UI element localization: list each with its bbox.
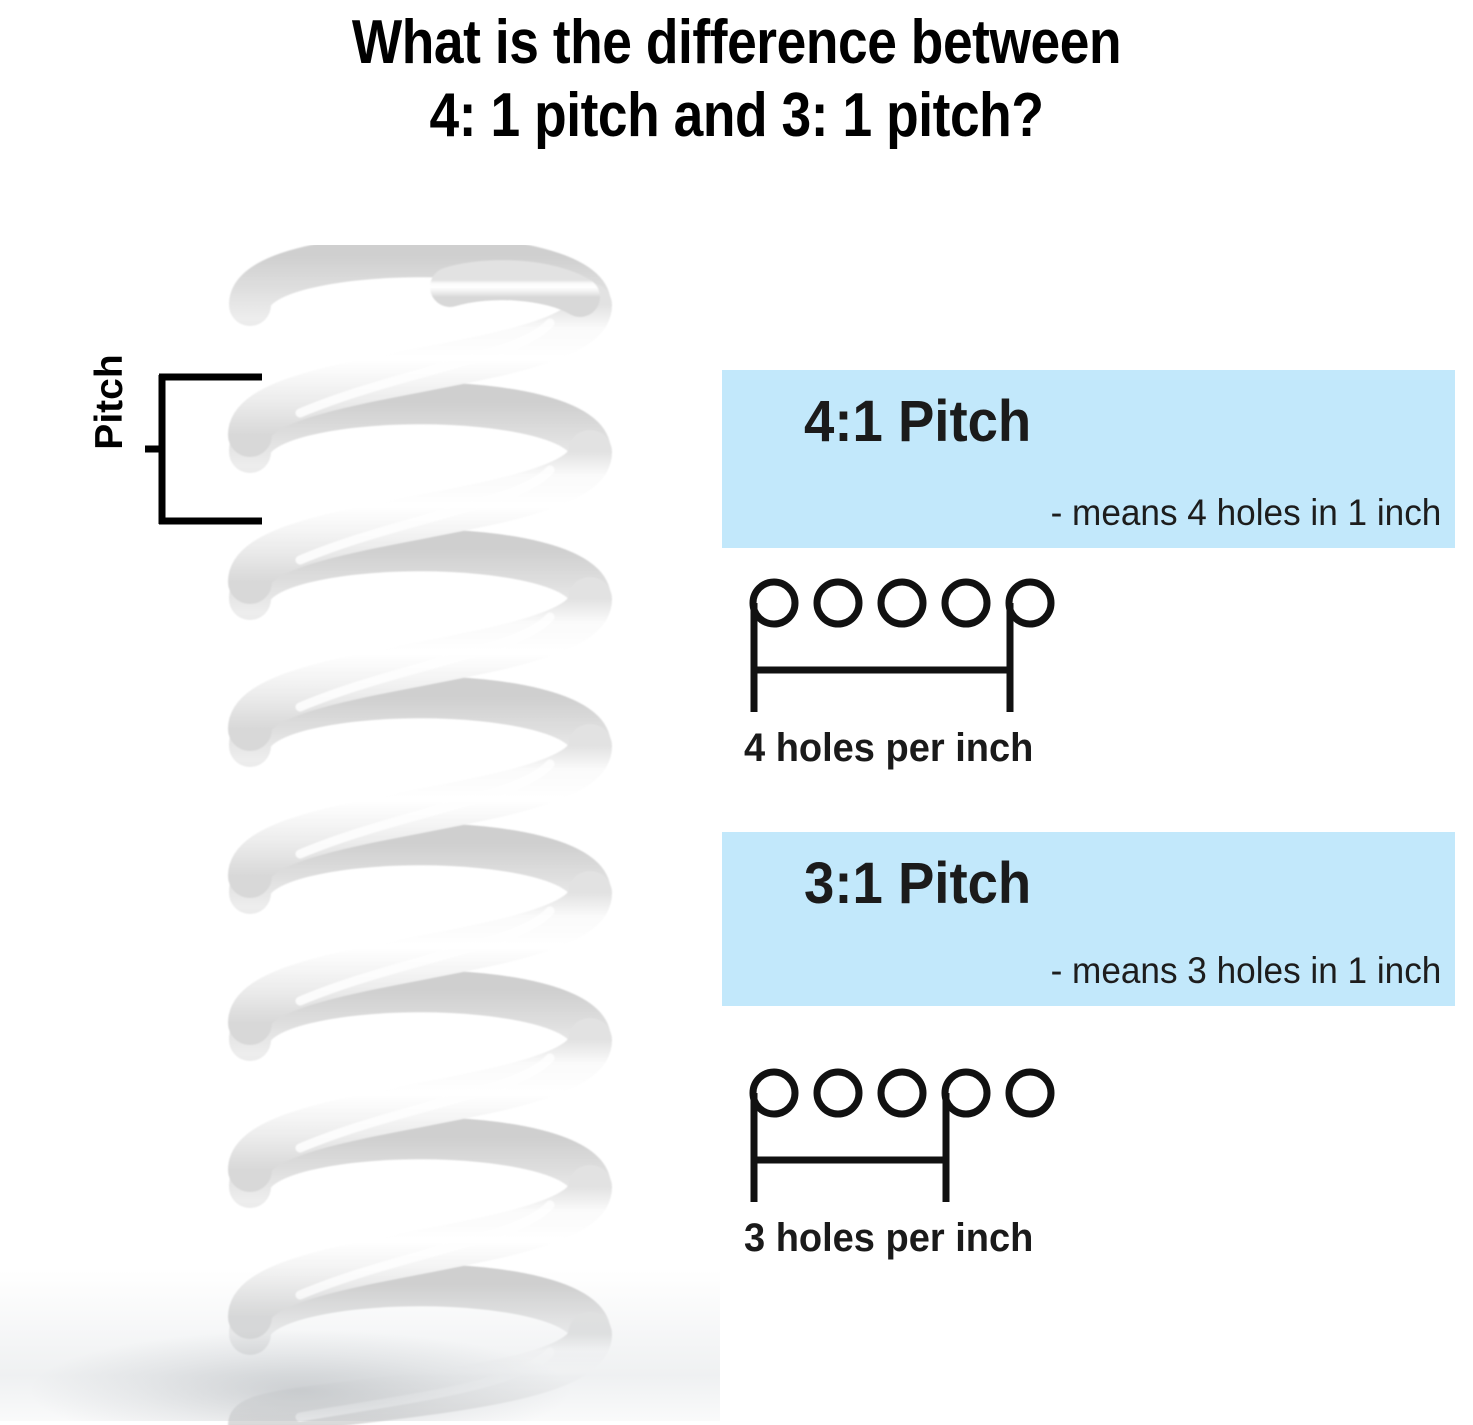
banner-subtext-4-1: - means 4 holes in 1 inch <box>1050 492 1441 534</box>
holes-row-3-per-inch-icon <box>732 1060 1092 1210</box>
pitch-measurement-group: Pitch <box>60 360 280 545</box>
banner-pitch-4-1: 4:1 Pitch - means 4 holes in 1 inch <box>722 370 1455 548</box>
holes-diagram-4-1: 4 holes per inch <box>732 570 1092 720</box>
coil-illustration-area <box>0 0 700 1191</box>
pitch-bracket-icon <box>145 360 275 535</box>
holes-diagram-3-1: 3 holes per inch <box>732 1060 1092 1210</box>
holes-caption-3-1: 3 holes per inch <box>744 1216 1033 1261</box>
pitch-label: Pitch <box>88 342 132 462</box>
holes-row-4-per-inch-icon <box>732 570 1092 720</box>
banner-subtext-3-1: - means 3 holes in 1 inch <box>1050 950 1441 992</box>
pitch-explanation-column: 4:1 Pitch - means 4 holes in 1 inch 4 ho… <box>722 0 1462 1421</box>
holes-caption-4-1: 4 holes per inch <box>744 726 1033 771</box>
banner-title-4-1: 4:1 Pitch <box>804 388 1031 455</box>
banner-pitch-3-1: 3:1 Pitch - means 3 holes in 1 inch <box>722 832 1455 1006</box>
banner-title-3-1: 3:1 Pitch <box>804 850 1031 917</box>
